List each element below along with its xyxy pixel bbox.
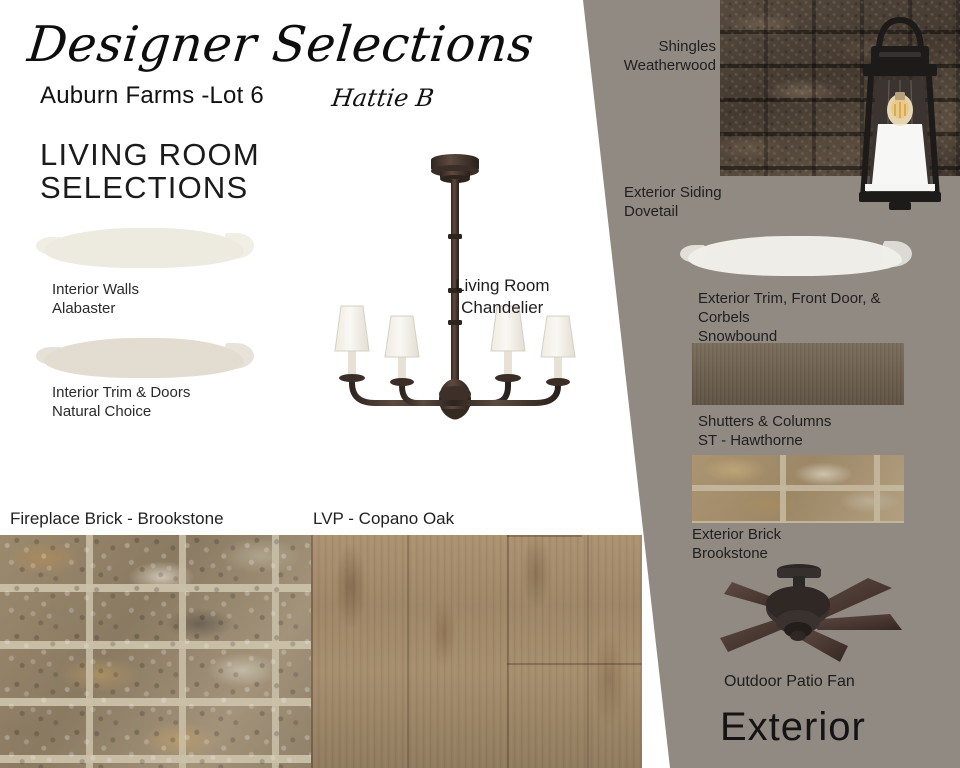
design-board: Designer Selections Auburn Farms -Lot 6 … [0,0,960,768]
lvp-flooring-texture [311,535,642,768]
lvp-plank-seam [507,663,642,665]
exterior-wall-lantern-image [845,12,955,220]
label-fireplace-brick: Fireplace Brick - Brookstone [10,509,224,529]
swatch-interior-trim-doors [44,338,244,378]
swatch-exterior-trim [688,236,902,276]
wall-lantern-svg [845,12,955,220]
label-exterior-brick: Exterior Brick Brookstone [692,526,781,564]
swatch-label-interior-trim-doors: Interior Trim & Doors Natural Choice [52,384,190,422]
label-shutters-columns: Shutters & Columns ST - Hawthorne [698,413,831,451]
project-subtitle: Auburn Farms -Lot 6 [40,82,264,110]
swatch-interior-walls [44,228,244,268]
chandelier-label: Living Room Chandelier [455,275,550,319]
living-room-section-heading: LIVING ROOM SELECTIONS [40,138,300,205]
ceiling-fan-svg [680,560,920,670]
exterior-heading: Exterior [720,705,866,750]
designer-name: Hattie B [330,84,436,112]
swatch-label-interior-walls: Interior Walls Alabaster [52,281,139,319]
label-exterior-trim: Exterior Trim, Front Door, & Corbels Sno… [698,290,881,346]
label-outdoor-patio-fan: Outdoor Patio Fan [724,673,855,691]
fireplace-brick-texture [0,535,311,768]
board-title: Designer Selections [25,16,537,73]
label-exterior-siding: Exterior Siding Dovetail [624,184,722,222]
lvp-plank-seam [507,535,582,537]
label-lvp-flooring: LVP - Copano Oak [313,509,454,529]
label-shingles: Shingles Weatherwood [598,38,716,76]
outdoor-patio-fan-image [680,560,920,670]
brick-grit-overlay [0,535,311,768]
swatch-shutters-columns [692,343,904,405]
swatch-exterior-brick [692,455,904,523]
